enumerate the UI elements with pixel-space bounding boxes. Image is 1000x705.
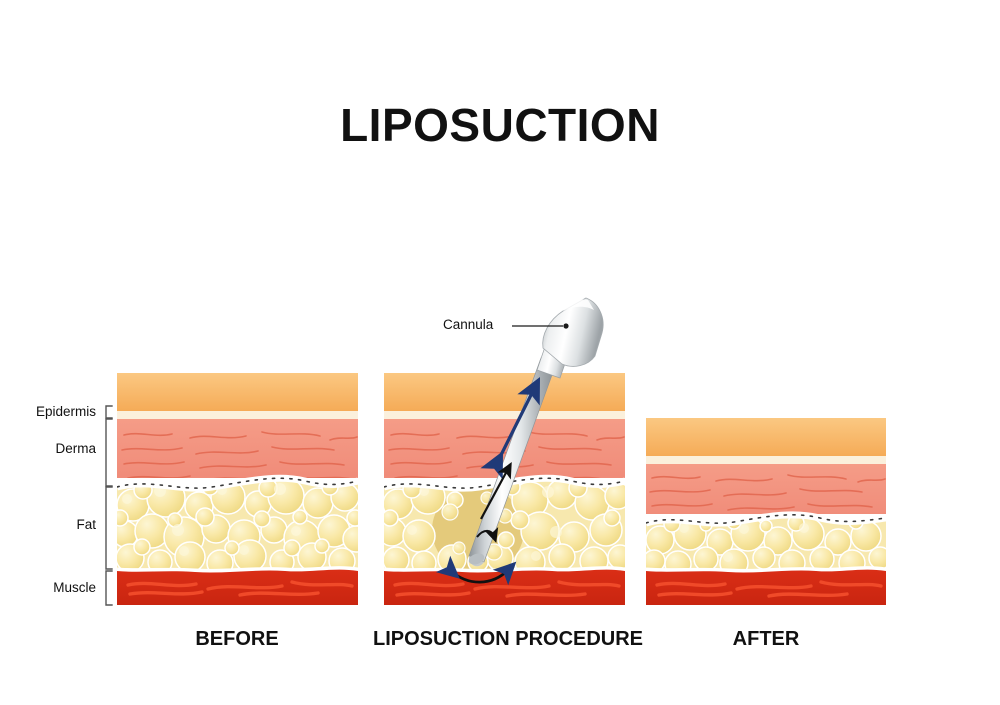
- layer-label-fat: Fat: [4, 517, 96, 532]
- cannula-label: Cannula: [443, 317, 493, 332]
- bracket-muscle: [106, 571, 112, 605]
- panel-after: [643, 418, 891, 605]
- bracket-derma: [106, 419, 112, 486]
- layer-brackets: [106, 406, 112, 605]
- layer-label-derma: Derma: [4, 441, 96, 456]
- epidermis-layer: [384, 373, 625, 411]
- panel-before: [112, 373, 369, 605]
- illustration-canvas: LIPOSUCTION: [0, 0, 1000, 705]
- epidermis-dermis-gap: [646, 456, 886, 465]
- layer-label-epidermis: Epidermis: [4, 404, 96, 419]
- caption-after: AFTER: [666, 628, 866, 651]
- cannula-leader-dot: [563, 323, 568, 328]
- liposuction-diagram: [0, 0, 1000, 705]
- caption-procedure: LIPOSUCTION PROCEDURE: [373, 628, 633, 651]
- bracket-fat: [106, 487, 112, 569]
- bracket-epidermis: [106, 406, 112, 418]
- layer-label-muscle: Muscle: [4, 580, 96, 595]
- epidermis-dermis-gap: [117, 411, 358, 420]
- epidermis-layer: [646, 418, 886, 456]
- fat-cells-group: [112, 478, 369, 576]
- caption-before: BEFORE: [137, 628, 337, 651]
- epidermis-dermis-gap: [384, 411, 625, 420]
- epidermis-layer: [117, 373, 358, 411]
